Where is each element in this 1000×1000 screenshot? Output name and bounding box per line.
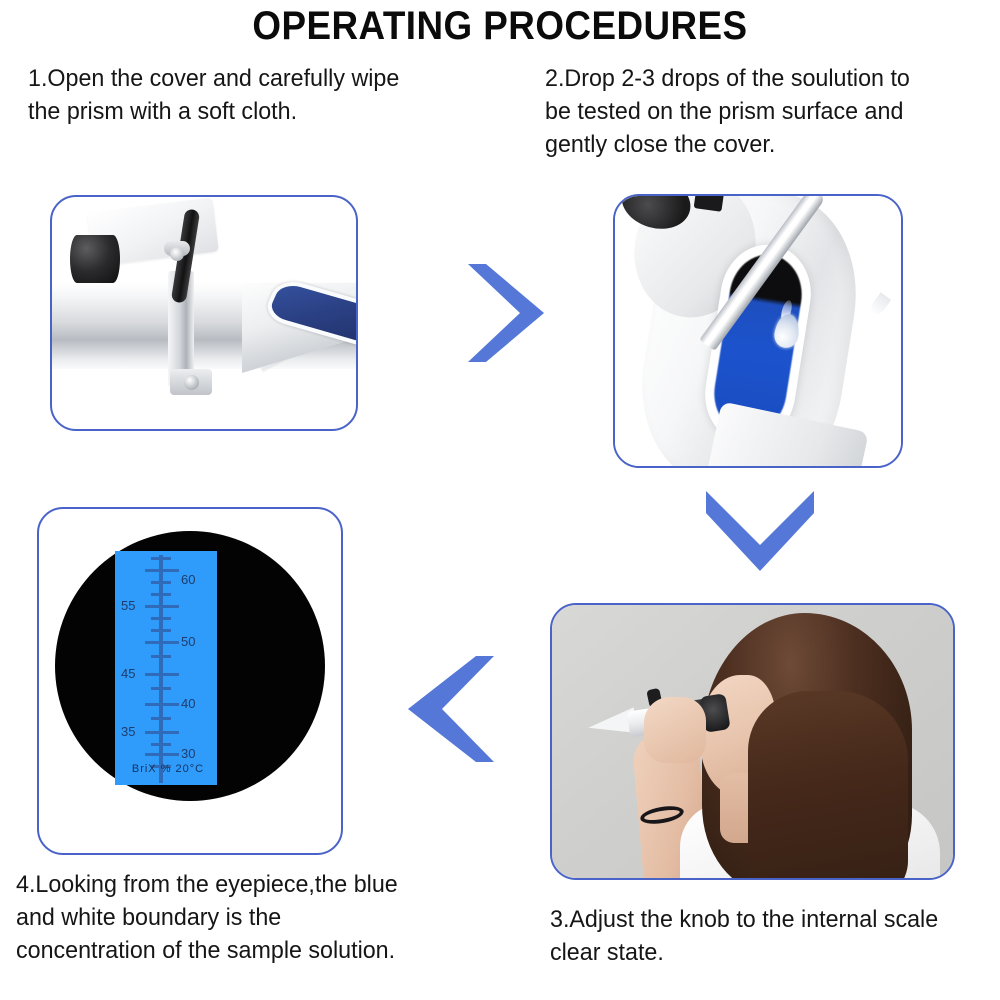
scale-label-35: 35: [121, 725, 135, 738]
step-4-image-card: 60 55 50 45 40 35 30: [37, 507, 343, 855]
arrow-right-icon: [456, 258, 556, 368]
scale-tick-35: [145, 731, 179, 734]
scale-minor-tick: [151, 617, 171, 620]
scale-tick-30: [145, 753, 179, 756]
arrow-left-icon: [396, 650, 506, 768]
brix-scale-column: 60 55 50 45 40 35 30: [115, 551, 217, 785]
refractometer-open-cover-illustration: [52, 197, 356, 429]
scale-minor-tick: [151, 581, 171, 584]
scale-tick-55: [145, 605, 179, 608]
scale-axis-line: [159, 555, 163, 783]
step-3-image-card: [550, 603, 955, 880]
woman-using-refractometer-photo: [552, 605, 953, 878]
scale-tick-50: [145, 641, 179, 644]
step-2-caption: 2.Drop 2-3 drops of the soulution to be …: [545, 62, 963, 161]
hinge-screw-top: [170, 247, 184, 261]
scale-minor-tick: [151, 687, 171, 690]
scale-label-55: 55: [121, 599, 135, 612]
scale-label-40: 40: [181, 697, 195, 710]
scale-minor-tick: [151, 629, 171, 632]
step-2-image-card: [613, 194, 903, 468]
eyepiece-scale-view: 60 55 50 45 40 35 30: [39, 509, 341, 853]
scale-minor-tick: [151, 743, 171, 746]
scale-label-50: 50: [181, 635, 195, 648]
scale-minor-tick: [151, 557, 171, 560]
scale-label-45: 45: [121, 667, 135, 680]
hinge-screw-bottom: [184, 375, 199, 390]
calibration-knob: [70, 235, 120, 283]
prism-with-solution-illustration: [615, 196, 901, 466]
hair-front: [748, 691, 908, 880]
scale-minor-tick: [151, 655, 171, 658]
scale-tick-60: [145, 569, 179, 572]
hand-holding-device: [644, 697, 706, 763]
scale-minor-tick: [151, 593, 171, 596]
scale-label-60: 60: [181, 573, 195, 586]
eyepiece-dark-field: 60 55 50 45 40 35 30: [55, 531, 325, 801]
arrow-down-icon: [700, 485, 820, 580]
step-3-caption: 3.Adjust the knob to the internal scale …: [550, 903, 959, 969]
step-1-caption: 1.Open the cover and carefully wipe the …: [28, 62, 437, 128]
scale-tick-40: [145, 703, 179, 706]
scale-footer-label: BriX % 20°C: [119, 763, 217, 775]
step-1-image-card: [50, 195, 358, 431]
scale-minor-tick: [151, 717, 171, 720]
step-4-caption: 4.Looking from the eyepiece,the blue and…: [16, 868, 434, 967]
scale-label-30: 30: [181, 747, 195, 760]
scale-tick-45: [145, 673, 179, 676]
operating-procedures-infographic: OPERATING PROCEDURES 1.Open the cover an…: [0, 0, 1000, 1000]
page-title: OPERATING PROCEDURES: [40, 4, 960, 49]
